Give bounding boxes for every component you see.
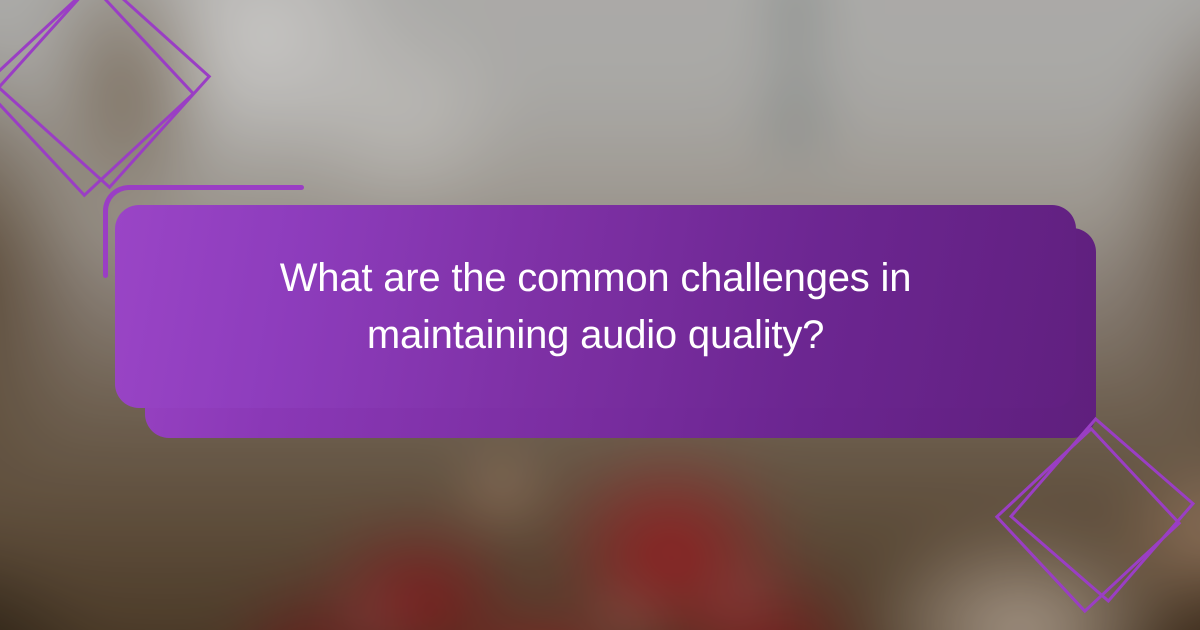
question-card: What are the common challenges in mainta… <box>115 205 1076 408</box>
social-card-canvas: What are the common challenges in mainta… <box>0 0 1200 630</box>
page-title: What are the common challenges in mainta… <box>246 250 946 364</box>
